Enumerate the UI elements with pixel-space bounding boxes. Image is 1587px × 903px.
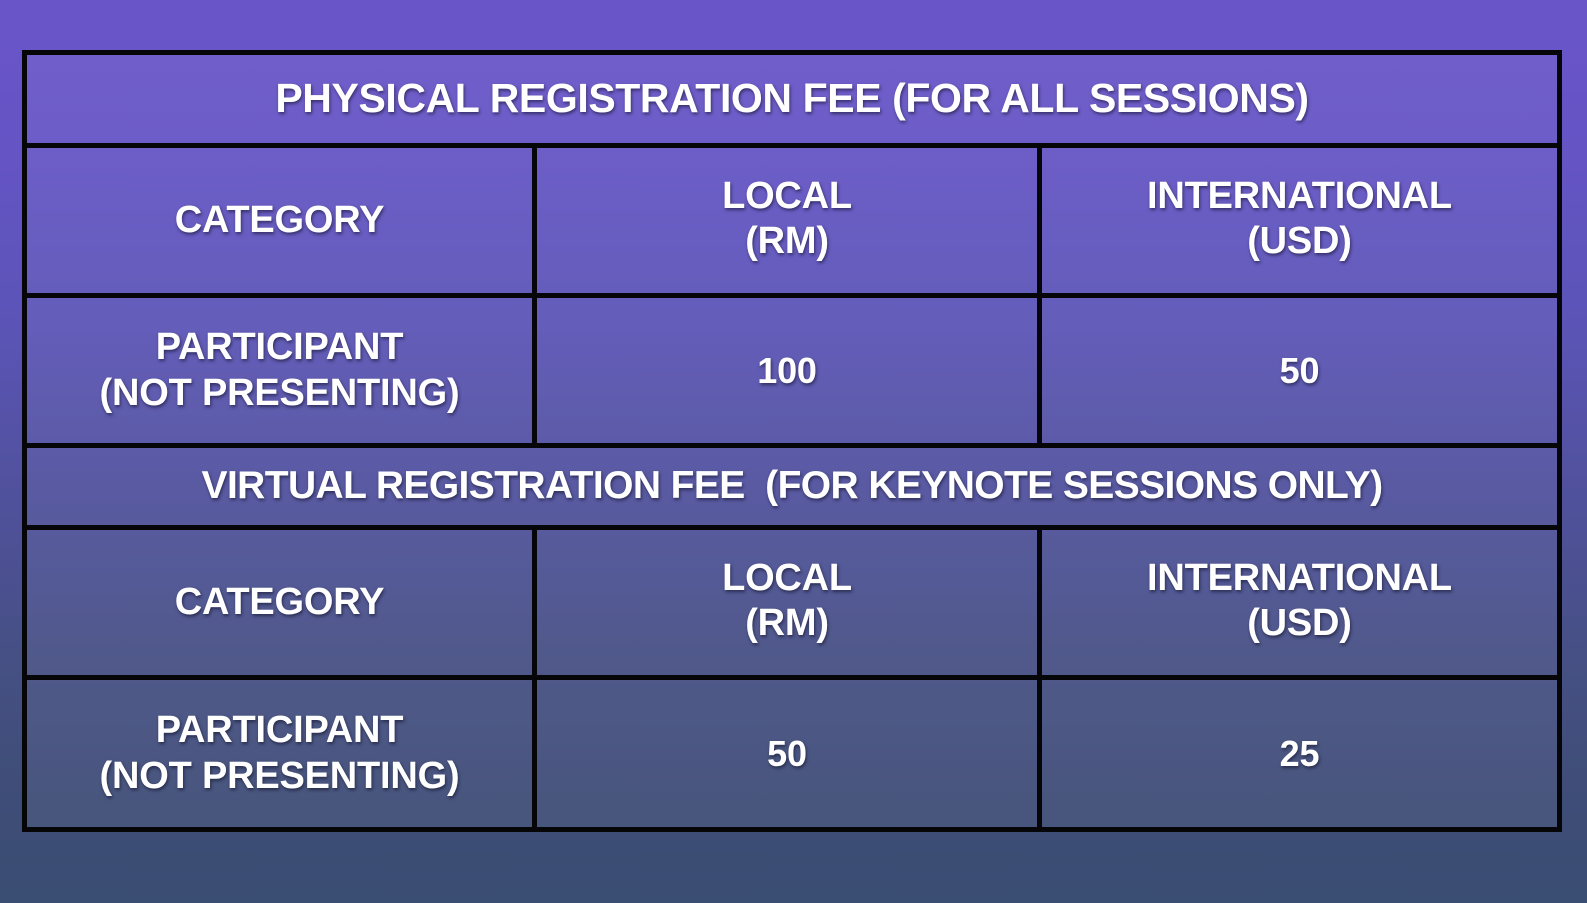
column-header-local-virtual-line1: LOCAL xyxy=(722,556,852,601)
cell-local-virtual-participant-value: 50 xyxy=(767,734,807,774)
cell-category-virtual-participant-line2: (NOT PRESENTING) xyxy=(100,754,460,800)
column-header-category-physical: CATEGORY xyxy=(27,148,532,293)
cell-international-virtual-participant: 25 xyxy=(1037,680,1557,827)
column-header-local-physical-line2: (RM) xyxy=(722,219,852,264)
column-header-local-virtual: LOCAL (RM) xyxy=(532,530,1037,675)
column-header-international-virtual: INTERNATIONAL (USD) xyxy=(1037,530,1557,675)
column-header-local-physical-line1: LOCAL xyxy=(722,174,852,219)
cell-local-virtual-participant: 50 xyxy=(532,680,1037,827)
column-header-international-virtual-line1: INTERNATIONAL xyxy=(1147,556,1452,601)
column-header-category-physical-text: CATEGORY xyxy=(175,200,385,242)
section-title-physical-text: PHYSICAL REGISTRATION FEE (FOR ALL SESSI… xyxy=(275,76,1308,121)
section-title-row-virtual: VIRTUAL REGISTRATION FEE (FOR KEYNOTE SE… xyxy=(27,443,1557,525)
section-title-row-physical: PHYSICAL REGISTRATION FEE (FOR ALL SESSI… xyxy=(27,55,1557,143)
table-row-physical-participant: PARTICIPANT (NOT PRESENTING) 100 50 xyxy=(27,293,1557,443)
registration-fee-table: PHYSICAL REGISTRATION FEE (FOR ALL SESSI… xyxy=(22,50,1562,832)
column-header-international-physical-line2: (USD) xyxy=(1147,219,1452,264)
cell-local-physical-participant: 100 xyxy=(532,298,1037,443)
cell-category-physical-participant-line2: (NOT PRESENTING) xyxy=(100,371,460,417)
column-header-international-physical-line1: INTERNATIONAL xyxy=(1147,174,1452,219)
table-row-virtual-participant: PARTICIPANT (NOT PRESENTING) 50 25 xyxy=(27,675,1557,827)
cell-category-virtual-participant: PARTICIPANT (NOT PRESENTING) xyxy=(27,680,532,827)
column-header-row-virtual: CATEGORY LOCAL (RM) INTERNATIONAL (USD) xyxy=(27,525,1557,675)
cell-category-virtual-participant-line1: PARTICIPANT xyxy=(100,708,460,754)
column-header-row-physical: CATEGORY LOCAL (RM) INTERNATIONAL (USD) xyxy=(27,143,1557,293)
section-title-virtual: VIRTUAL REGISTRATION FEE (FOR KEYNOTE SE… xyxy=(27,448,1557,525)
cell-local-physical-participant-value: 100 xyxy=(757,351,816,391)
column-header-local-physical: LOCAL (RM) xyxy=(532,148,1037,293)
column-header-international-physical: INTERNATIONAL (USD) xyxy=(1037,148,1557,293)
cell-international-virtual-participant-value: 25 xyxy=(1280,734,1320,774)
cell-category-physical-participant-line1: PARTICIPANT xyxy=(100,325,460,371)
column-header-category-virtual: CATEGORY xyxy=(27,530,532,675)
column-header-local-virtual-line2: (RM) xyxy=(722,601,852,646)
cell-international-physical-participant-value: 50 xyxy=(1280,351,1320,391)
column-header-international-virtual-line2: (USD) xyxy=(1147,601,1452,646)
cell-international-physical-participant: 50 xyxy=(1037,298,1557,443)
column-header-category-virtual-text: CATEGORY xyxy=(175,582,385,624)
section-title-virtual-text: VIRTUAL REGISTRATION FEE (FOR KEYNOTE SE… xyxy=(202,465,1383,508)
section-title-physical: PHYSICAL REGISTRATION FEE (FOR ALL SESSI… xyxy=(27,55,1557,143)
cell-category-physical-participant: PARTICIPANT (NOT PRESENTING) xyxy=(27,298,532,443)
